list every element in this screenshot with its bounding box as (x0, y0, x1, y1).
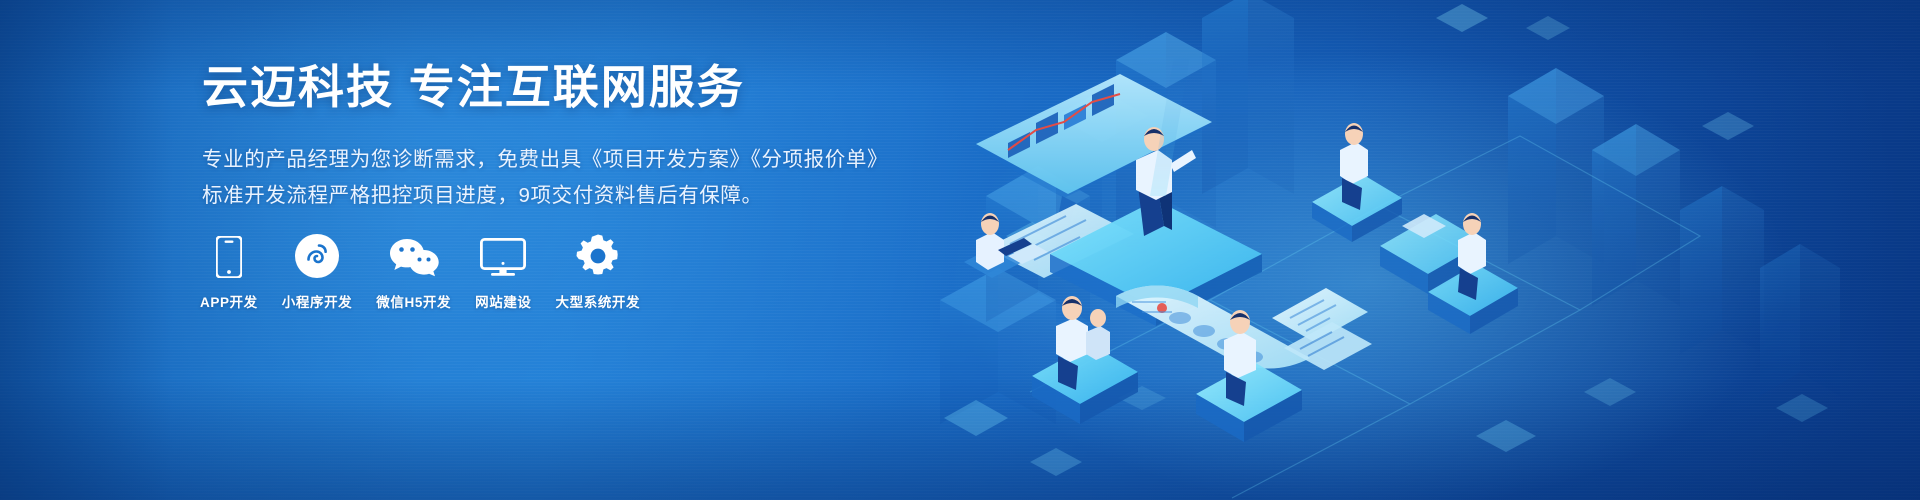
hero-copy-block: 云迈科技 专注互联网服务 专业的产品经理为您诊断需求，免费出具《项目开发方案》《… (202, 62, 922, 213)
isometric-tech-illustration (880, 0, 1920, 500)
hero-banner: 云迈科技 专注互联网服务 专业的产品经理为您诊断需求，免费出具《项目开发方案》《… (0, 0, 1920, 500)
wechat-icon (388, 232, 440, 278)
service-label: 微信H5开发 (376, 291, 451, 311)
service-item-website[interactable]: 网站建设 (475, 232, 531, 311)
service-label: APP开发 (200, 291, 258, 311)
subtitle-line-1: 专业的产品经理为您诊断需求，免费出具《项目开发方案》《分项报价单》 (202, 143, 922, 177)
mobile-phone-icon (216, 232, 242, 278)
service-label: 大型系统开发 (556, 291, 641, 311)
page-title: 云迈科技 专注互联网服务 (202, 62, 922, 113)
gear-icon (576, 232, 620, 278)
service-item-miniprogram[interactable]: 小程序开发 (282, 232, 353, 311)
service-label: 小程序开发 (282, 291, 353, 311)
service-item-large-system[interactable]: 大型系统开发 (556, 232, 641, 311)
service-label: 网站建设 (475, 291, 531, 311)
mini-program-icon (295, 232, 339, 278)
service-item-app[interactable]: APP开发 (200, 232, 258, 311)
service-item-wechat-h5[interactable]: 微信H5开发 (376, 232, 451, 311)
subtitle-line-2: 标准开发流程严格把控项目进度，9项交付资料售后有保障。 (202, 179, 922, 213)
service-icon-row: APP开发 小程序开发 (200, 232, 640, 311)
monitor-icon (480, 232, 526, 278)
